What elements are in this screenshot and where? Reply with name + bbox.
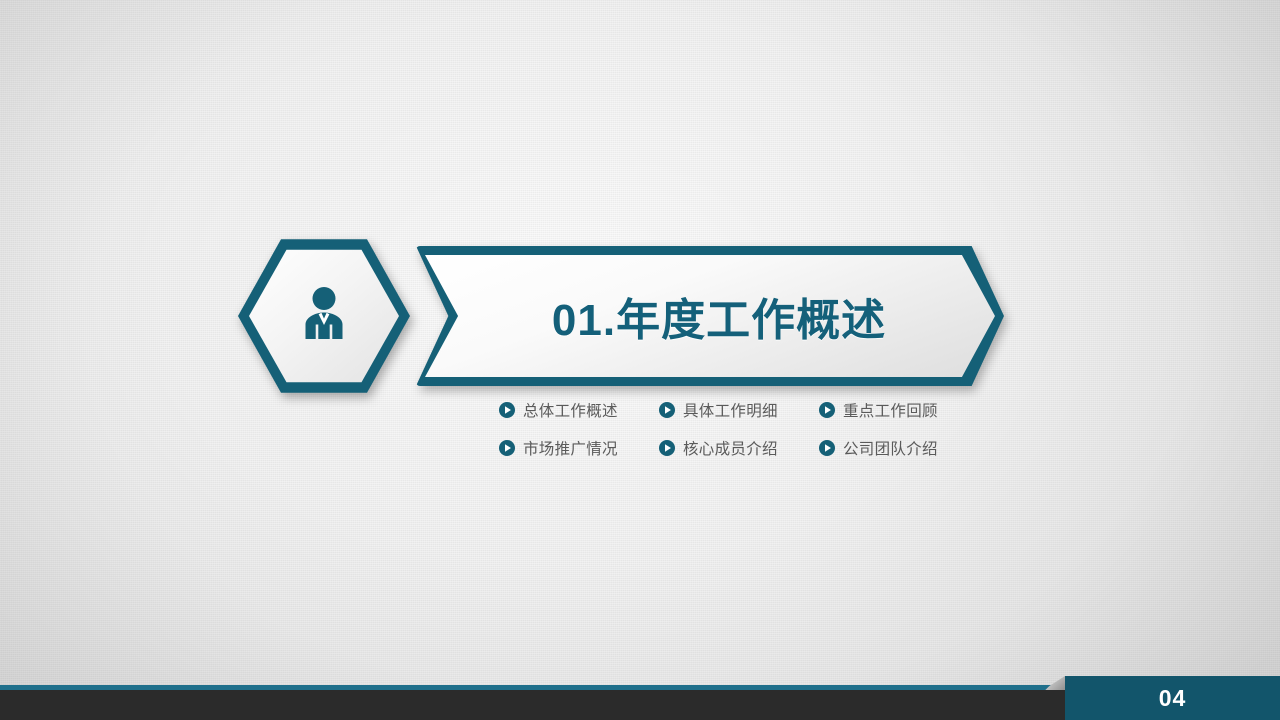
section-bullet-list: 总体工作概述 具体工作明细 重点工作回顾 市场推广情况 核心成员介绍 公司团队介… [498,398,978,460]
play-circle-icon [658,401,676,419]
page-title: 01.年度工作概述 [416,246,1004,386]
hexagon-badge [238,236,410,396]
play-circle-icon [818,401,836,419]
list-item-label: 重点工作回顾 [843,399,938,421]
footer-fold-corner [1043,676,1065,690]
play-circle-icon [658,439,676,457]
list-item-label: 核心成员介绍 [683,437,778,459]
play-circle-icon [818,439,836,457]
list-item-label: 总体工作概述 [523,399,618,421]
page-number: 04 [1159,685,1187,712]
section-banner: 01.年度工作概述 [238,236,1004,396]
list-item[interactable]: 市场推广情况 [498,436,658,460]
list-item-label: 公司团队介绍 [843,437,938,459]
list-item-label: 具体工作明细 [683,399,778,421]
list-item[interactable]: 核心成员介绍 [658,436,818,460]
person-business-icon [238,236,410,396]
page-number-badge: 04 [1065,676,1280,720]
list-item[interactable]: 重点工作回顾 [818,398,978,422]
list-item-label: 市场推广情况 [523,437,618,459]
list-item[interactable]: 总体工作概述 [498,398,658,422]
list-item[interactable]: 公司团队介绍 [818,436,978,460]
play-circle-icon [498,401,516,419]
title-plaque: 01.年度工作概述 [416,246,1004,386]
list-item[interactable]: 具体工作明细 [658,398,818,422]
play-circle-icon [498,439,516,457]
